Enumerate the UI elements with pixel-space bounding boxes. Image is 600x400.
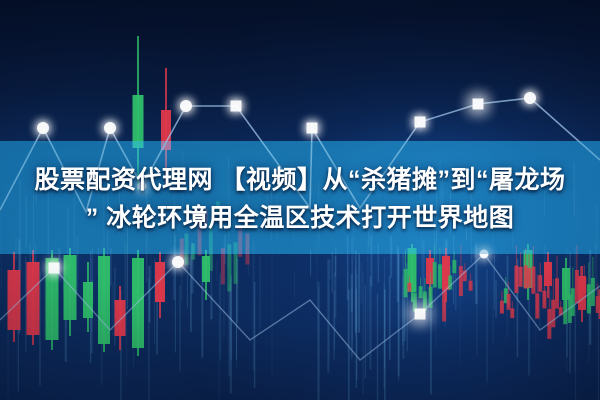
headline-line-2: ” 冰轮环境用全温区技术打开世界地图 — [0, 199, 600, 237]
headline: 股票配资代理网 【视频】从“杀猪摊”到“屠龙场 ” 冰轮环境用全温区技术打开世界… — [0, 161, 600, 237]
banner-image: 股票配资代理网 【视频】从“杀猪摊”到“屠龙场 ” 冰轮环境用全温区技术打开世界… — [0, 0, 600, 400]
headline-line-1: 股票配资代理网 【视频】从“杀猪摊”到“屠龙场 — [0, 161, 600, 199]
